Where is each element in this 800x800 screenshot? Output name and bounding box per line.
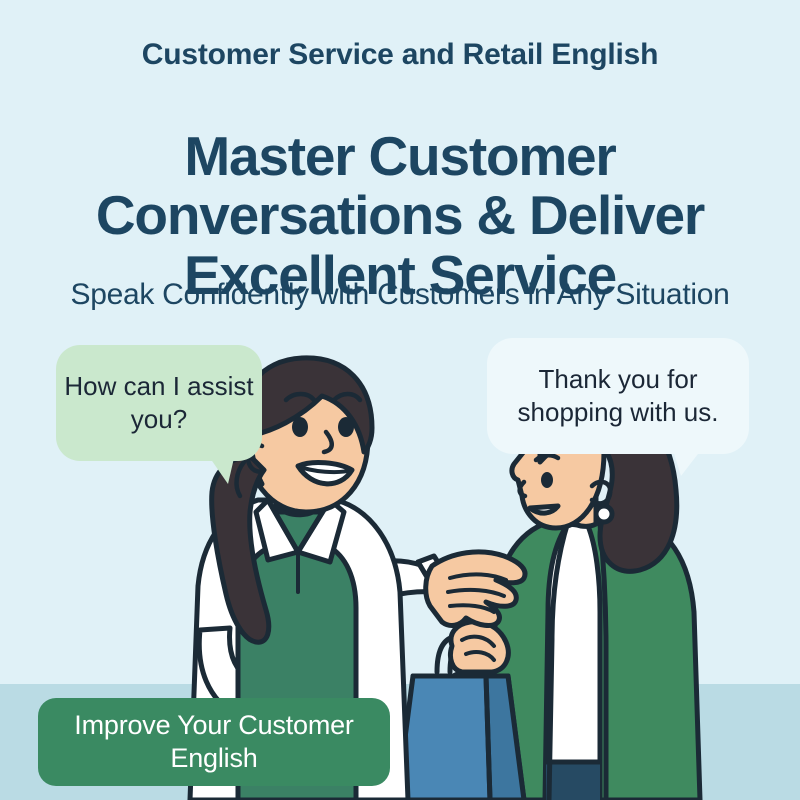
speech-bubble-customer: Thank you for shopping with us.: [487, 338, 749, 454]
eyebrow-text: Customer Service and Retail English: [0, 38, 800, 71]
speech-bubble-clerk: How can I assist you?: [56, 345, 262, 461]
speech-bubble-clerk-tail: [210, 458, 234, 484]
poster-canvas: Customer Service and Retail English Mast…: [0, 0, 800, 800]
speech-bubble-clerk-text: How can I assist you?: [56, 370, 262, 437]
speech-bubble-customer-tail: [673, 450, 701, 476]
speech-bubble-customer-text: Thank you for shopping with us.: [487, 363, 749, 430]
cta-button[interactable]: Improve Your Customer English: [38, 698, 390, 786]
customer-hand-on-bag: [450, 622, 508, 672]
subtitle-text: Speak Confidently with Customers in Any …: [0, 278, 800, 313]
